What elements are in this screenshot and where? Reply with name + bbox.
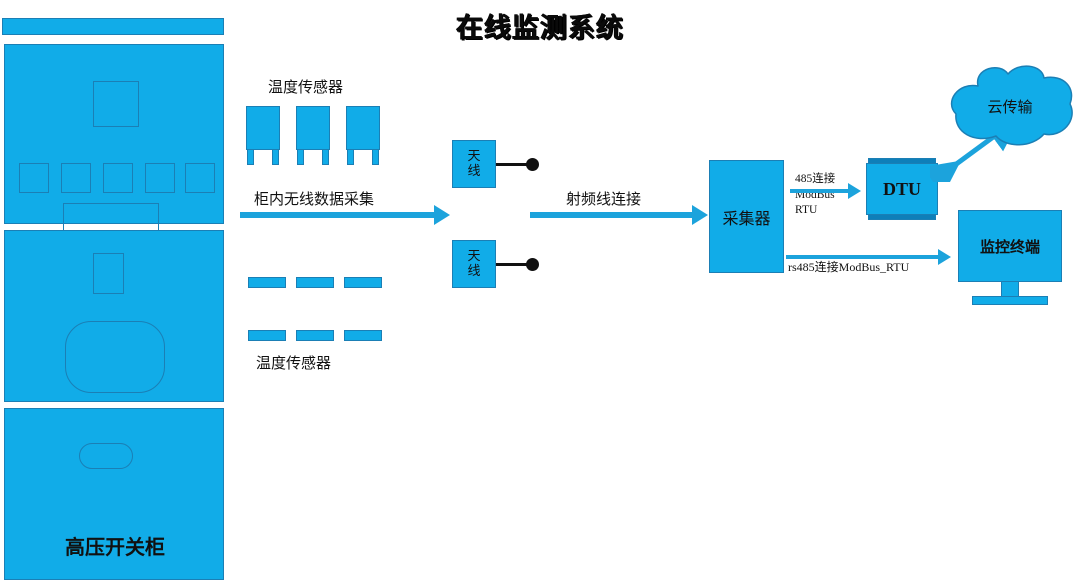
cabinet-indicator-1 [19, 163, 49, 193]
cabinet-breaker-rounded [65, 321, 165, 393]
sensor-body [346, 106, 380, 150]
antenna-label-line2: 线 [467, 264, 480, 279]
antenna-dot [526, 158, 539, 171]
sensor-body [296, 106, 330, 150]
antenna-label-line1: 天 [467, 249, 480, 264]
cabinet-indicator-3 [103, 163, 133, 193]
cabinet-indicator-5 [185, 163, 215, 193]
sensor-leg-left [247, 149, 254, 165]
cloud-label: 云传输 [944, 96, 1076, 117]
sensor-bar-r2c3 [344, 330, 382, 341]
cabinet-display-square [93, 253, 124, 294]
arrow-label-wireless: 柜内无线数据采集 [254, 188, 374, 209]
dtu-label: DTU [883, 179, 921, 200]
sensor-bar-r2c2 [296, 330, 334, 341]
rs485-line-3: RTU [795, 203, 835, 219]
arrow-label-rs485-top: 485连接 ModBus RTU [795, 172, 835, 219]
antenna-wire [496, 263, 528, 266]
monitor-stand-base [972, 296, 1048, 305]
diagram-canvas: 在线监测系统 高压开关柜 温度传感器 [0, 0, 1080, 566]
sensor-leg-right [272, 149, 279, 165]
sensor-bar-r1c2 [296, 277, 334, 288]
cabinet-section-bottom: 高压开关柜 [4, 408, 224, 580]
monitor-screen: 监控终端 [958, 210, 1062, 282]
sensor-leg-left [297, 149, 304, 165]
temperature-sensor-label-bottom: 温度传感器 [256, 352, 331, 373]
cabinet-section-top [4, 44, 224, 224]
monitor-label: 监控终端 [980, 236, 1040, 257]
cabinet-indicator-4 [145, 163, 175, 193]
arrow-label-rf: 射频线连接 [566, 188, 641, 209]
monitoring-terminal: 监控终端 [958, 210, 1062, 315]
sensor-bar-r2c1 [248, 330, 286, 341]
cabinet-handle-pill [79, 443, 133, 469]
antenna-box: 天 线 [452, 240, 496, 288]
antenna-1: 天 线 [452, 140, 496, 188]
high-voltage-cabinet: 高压开关柜 [2, 18, 226, 564]
antenna-label-line2: 线 [467, 164, 480, 179]
arrow-label-rs485-bottom: rs485连接ModBus_RTU [788, 258, 909, 275]
sensor-bar-r1c1 [248, 277, 286, 288]
sensor-body [246, 106, 280, 150]
cloud-transmission: 云传输 [944, 62, 1076, 150]
antenna-label-line1: 天 [467, 149, 480, 164]
rs485-line-1: 485连接 [795, 172, 835, 188]
cabinet-meter-square [93, 81, 139, 127]
sensor-bar-r1c3 [344, 277, 382, 288]
dtu-body: DTU [866, 163, 938, 215]
antenna-wire [496, 163, 528, 166]
antenna-dot [526, 258, 539, 271]
cabinet-label: 高压开关柜 [5, 531, 225, 560]
collector-box: 采集器 [709, 160, 784, 273]
sensor-leg-right [372, 149, 379, 165]
sensor-leg-right [322, 149, 329, 165]
cabinet-section-middle [4, 230, 224, 402]
cabinet-top-strip [2, 18, 224, 35]
dtu-bottom-edge [868, 214, 936, 220]
temperature-sensor-label-top: 温度传感器 [268, 76, 343, 97]
cabinet-indicator-2 [61, 163, 91, 193]
dtu-device: DTU [866, 158, 938, 220]
sensor-leg-left [347, 149, 354, 165]
monitor-stand-neck [1001, 281, 1019, 297]
antenna-box: 天 线 [452, 140, 496, 188]
collector-label: 采集器 [722, 205, 770, 229]
antenna-2: 天 线 [452, 240, 496, 288]
